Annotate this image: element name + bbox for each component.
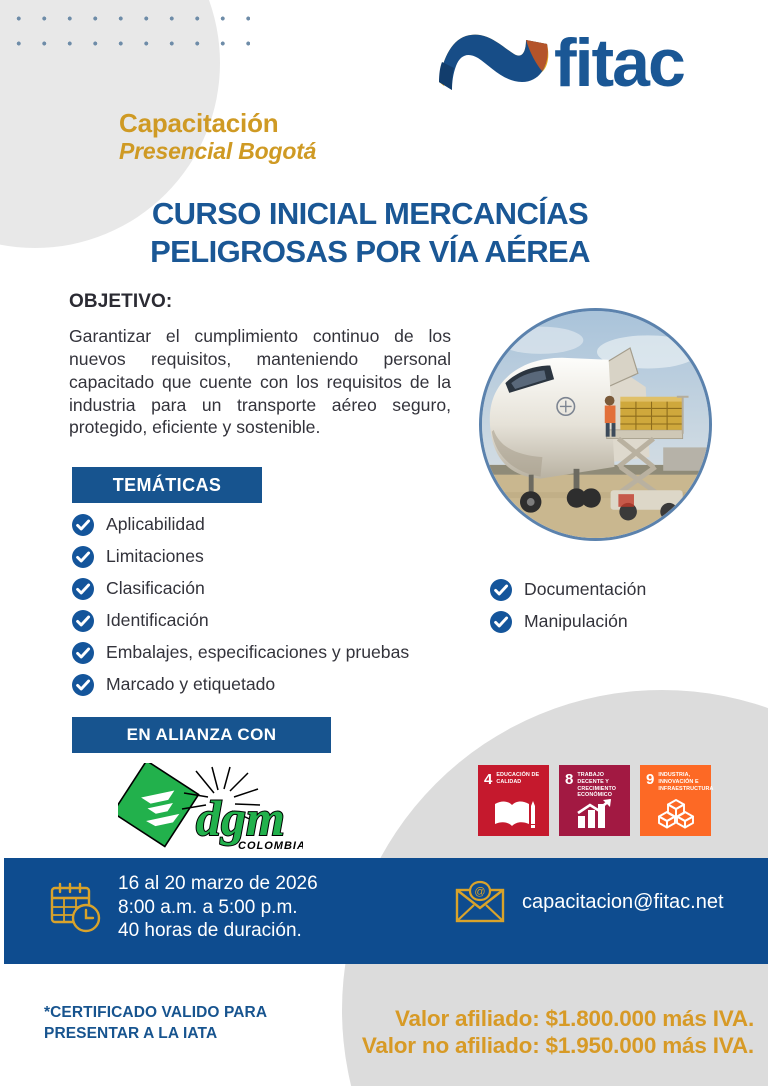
list-item: Marcado y etiquetado [71,673,491,697]
date-info-group: 16 al 20 marzo de 2026 8:00 a.m. a 5:00 … [48,872,318,943]
svg-text:COLOMBIA: COLOMBIA [238,840,303,852]
date-line-2: 8:00 a.m. a 5:00 p.m. [118,896,318,920]
check-circle-icon [71,609,95,633]
svg-text:fitac: fitac [554,25,684,101]
check-circle-icon [71,513,95,537]
check-circle-icon [71,577,95,601]
cert-line-1: *CERTIFICADO VALIDO PARA [44,1004,267,1021]
objective-text: Garantizar el cumplimiento continuo de l… [69,325,451,439]
check-circle-icon [489,578,513,602]
ods-title: TRABAJO DECENTE Y CRECIMIENTO ECONÓMICO [577,772,624,799]
title-line-1: CURSO INICIAL MERCANCÍAS [40,195,700,233]
alliance-section-label: EN ALIANZA CON [72,717,331,753]
price-block: Valor afiliado: $1.800.000 más IVA. Valo… [362,1005,754,1060]
check-circle-icon [489,610,513,634]
list-item-label: Marcado y etiquetado [106,676,275,694]
list-item-label: Aplicabilidad [106,516,205,534]
svg-text:dgm: dgm [196,790,285,846]
tematicas-list-right: Documentación Manipulación [489,578,754,642]
ods-badge-4: 4 EDUCACIÓN DE CALIDAD [478,765,549,836]
dgm-colombia-logo: dgm COLOMBIA [118,763,303,855]
title-line-2: PELIGROSAS POR VÍA AÉREA [40,233,700,271]
list-item-label: Limitaciones [106,548,204,566]
info-bar: 16 al 20 marzo de 2026 8:00 a.m. a 5:00 … [4,858,768,964]
fitac-logo: fitac [426,22,726,104]
list-item-label: Documentación [524,581,646,599]
email-address[interactable]: capacitacion@fitac.net [522,891,724,914]
poster-root: fitac Capacitación Presencial Bogotá CUR… [0,0,768,1086]
ods-number: 4 [484,772,492,787]
ods-title: EDUCACIÓN DE CALIDAD [496,772,543,786]
list-item: Embalajes, especificaciones y pruebas [71,641,491,665]
svg-text:@: @ [474,886,485,898]
list-item: Clasificación [71,577,491,601]
list-item: Aplicabilidad [71,513,491,537]
certificate-note: *CERTIFICADO VALIDO PARA PRESENTAR A LA … [44,1003,324,1045]
calendar-clock-icon [48,880,102,934]
check-circle-icon [71,673,95,697]
growth-chart-icon [559,799,630,829]
objective-heading: OBJETIVO: [69,291,172,313]
ods-title: INDUSTRIA, INNOVACIÓN E INFRAESTRUCTURA [658,772,713,792]
kicker-block: Capacitación Presencial Bogotá [119,110,316,163]
list-item-label: Clasificación [106,580,205,598]
ods-number: 9 [646,772,654,787]
cubes-icon [640,799,711,829]
check-circle-icon [71,641,95,665]
list-item-label: Identificación [106,612,209,630]
email-icon: @ [454,880,506,924]
date-lines: 16 al 20 marzo de 2026 8:00 a.m. a 5:00 … [118,872,318,943]
list-item: Limitaciones [71,545,491,569]
list-item: Identificación [71,609,491,633]
ods-badge-row: 4 EDUCACIÓN DE CALIDAD 8 TRABAJO DECENTE… [478,765,711,836]
cert-line-2: PRESENTAR A LA IATA [44,1025,217,1042]
kicker-line-1: Capacitación [119,110,316,137]
email-info-group[interactable]: @ capacitacion@fitac.net [454,880,724,924]
ods-badge-9: 9 INDUSTRIA, INNOVACIÓN E INFRAESTRUCTUR… [640,765,711,836]
date-line-3: 40 horas de duración. [118,919,318,943]
price-affiliate: Valor afiliado: $1.800.000 más IVA. [362,1005,754,1032]
ods-badge-8: 8 TRABAJO DECENTE Y CRECIMIENTO ECONÓMIC… [559,765,630,836]
tematicas-section-label: TEMÁTICAS [72,467,262,503]
price-non-affiliate: Valor no afiliado: $1.950.000 más IVA. [362,1032,754,1059]
list-item-label: Manipulación [524,613,628,631]
page-title: CURSO INICIAL MERCANCÍAS PELIGROSAS POR … [40,195,700,271]
tematicas-list-left: Aplicabilidad Limitaciones Clasificación… [71,513,491,705]
decorative-dot-grid [0,6,250,56]
ods-number: 8 [565,772,573,787]
check-circle-icon [71,545,95,569]
list-item: Documentación [489,578,754,602]
book-and-pencil-icon [478,797,549,829]
list-item-label: Embalajes, especificaciones y pruebas [106,644,409,662]
kicker-line-2: Presencial Bogotá [119,139,316,163]
cargo-airplane-photo [479,308,712,541]
date-line-1: 16 al 20 marzo de 2026 [118,872,318,896]
list-item: Manipulación [489,610,754,634]
